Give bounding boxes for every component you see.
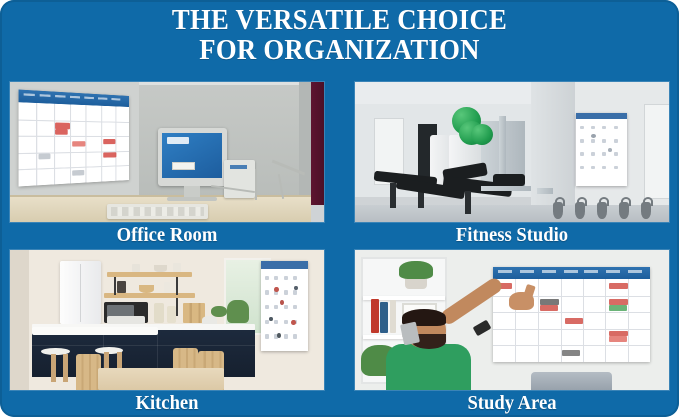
kitchen-canister	[117, 281, 126, 294]
photo-fitness-studio	[355, 82, 669, 222]
monitor-base	[167, 197, 217, 201]
caption-kitchen: Kitchen	[21, 390, 313, 416]
person-wristwatch	[473, 320, 491, 336]
gym-wall-calendar	[576, 113, 626, 186]
office-maroon-partition	[311, 82, 324, 205]
calendar-header	[261, 261, 308, 269]
title-line-2: FOR ORGANIZATION	[27, 36, 652, 66]
photo-office-room	[10, 82, 324, 222]
kitchen-shelf-bracket-3	[176, 298, 178, 316]
gym-kettlebell-3	[597, 202, 607, 219]
office-monitor	[158, 128, 227, 185]
gym-bench-leg-1	[390, 183, 396, 208]
gym-kettlebell-4	[619, 202, 629, 219]
kitchen-wall-calendar	[261, 261, 308, 351]
office-right-wall	[299, 82, 312, 200]
kitchen-shelf-upper	[107, 272, 192, 276]
gym-door-right	[644, 104, 669, 198]
photo-study-area	[355, 250, 669, 390]
person-pointing-finger	[523, 284, 536, 299]
tower-logo	[230, 165, 247, 170]
gym-kettlebell-2	[575, 202, 585, 219]
gym-bench-leg-3	[465, 191, 471, 213]
caption-fitness-studio: Fitness Studio	[366, 222, 658, 248]
photo-kitchen	[10, 250, 324, 390]
panel-study-area: Study Area	[355, 250, 669, 416]
person-raised-arm	[439, 276, 505, 327]
gym-exercise-ball-3	[471, 124, 493, 145]
gym-kettlebell-1	[553, 202, 563, 219]
calendar-body	[576, 119, 626, 185]
kitchen-jar-2	[173, 263, 181, 273]
kitchen-jar-tall-1	[154, 303, 163, 323]
gym-bench-base	[481, 186, 531, 192]
gym-bench-5	[493, 174, 524, 185]
gym-wall-rail	[537, 188, 553, 194]
kitchen-fridge	[60, 261, 101, 324]
kitchen-island-top	[32, 327, 158, 335]
kitchen-window-plant	[227, 300, 249, 322]
office-keyboard	[107, 204, 207, 219]
kitchen-toaster	[107, 316, 145, 324]
person-green-shirt	[386, 344, 471, 390]
kitchen-left-wall	[10, 250, 29, 390]
kitchen-bottle	[164, 282, 170, 293]
office-wall-calendar	[18, 90, 129, 187]
gym-kettlebell-5	[641, 202, 651, 219]
kitchen-bowl-1	[154, 265, 167, 272]
kitchen-shelf-lower	[104, 293, 195, 297]
panel-office-room: Office Room	[10, 82, 324, 248]
kitchen-shelf-bracket-1	[114, 277, 116, 295]
panel-kitchen: Kitchen	[10, 250, 324, 416]
panel-grid: Office Room	[0, 82, 679, 417]
monitor-brand-logo	[167, 137, 188, 144]
calendar-body	[18, 102, 129, 186]
kitchen-shelf-bracket-2	[176, 277, 178, 295]
kitchen-stool-leg-1	[51, 354, 56, 382]
calendar-body	[261, 269, 308, 351]
title-line-1: THE VERSATILE CHOICE	[172, 4, 507, 36]
kitchen-jar-tall-2	[167, 306, 176, 323]
caption-study-area: Study Area	[366, 390, 658, 416]
monitor-screen	[162, 133, 221, 177]
study-person	[355, 250, 669, 390]
monitor-sticker	[172, 162, 195, 170]
poster-root: THE VERSATILE CHOICE FOR ORGANIZATION	[0, 0, 679, 417]
panel-fitness-studio: Fitness Studio	[355, 82, 669, 248]
gym-pillar	[531, 82, 575, 205]
kitchen-stool-leg-2	[63, 354, 68, 382]
page-title: THE VERSATILE CHOICE FOR ORGANIZATION	[27, 6, 652, 66]
caption-office-room: Office Room	[21, 222, 313, 248]
kitchen-jar-1	[132, 264, 140, 272]
office-cable-2	[255, 169, 257, 200]
kitchen-dining-table	[98, 368, 224, 390]
